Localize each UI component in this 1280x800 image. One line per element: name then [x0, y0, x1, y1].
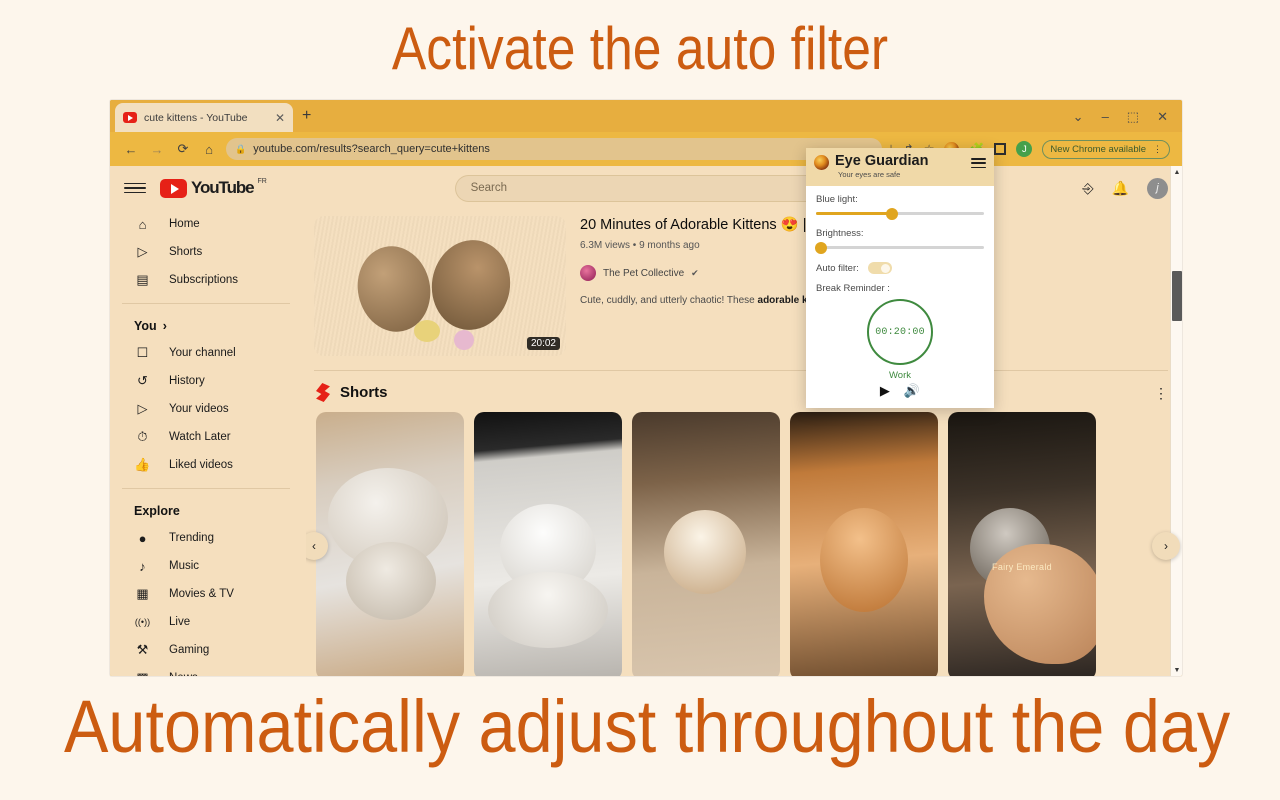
bell-icon[interactable]: 🔔 [1112, 181, 1129, 195]
timer-display: 00:20:00 [867, 299, 933, 365]
gaming-icon: ⚒ [134, 642, 151, 658]
shorts-icon: ▷ [134, 244, 151, 260]
timer-controls: ▶ 🔊 [880, 384, 920, 397]
sidebar-label: Subscriptions [169, 274, 238, 286]
subscriptions-icon: ▤ [134, 272, 151, 288]
youtube-logo[interactable]: YouTube FR [160, 178, 267, 198]
home-button[interactable]: ⌂ [196, 136, 222, 162]
sidebar-item-subscriptions[interactable]: ▤ Subscriptions [120, 266, 296, 294]
short-white-kitten[interactable] [474, 412, 622, 676]
promo-heading-top: Activate the auto filter [90, 14, 1191, 83]
account-avatar[interactable]: j [1147, 178, 1168, 199]
sidebar-you-header[interactable]: You › [120, 313, 296, 339]
browser-window: cute kittens - YouTube ✕ + ⌄ – ⬚ ✕ ← → ⟳… [110, 100, 1182, 676]
sidebar-label: News [169, 672, 198, 676]
blue-light-slider-fill [816, 212, 892, 215]
sidebar-label: Your videos [169, 403, 229, 415]
youtube-logo-text: YouTube [191, 178, 254, 198]
address-bar-url: youtube.com/results?search_query=cute+ki… [253, 143, 490, 155]
chrome-update-pill[interactable]: New Chrome available ⋮ [1042, 140, 1170, 159]
sidebar-item-liked-videos[interactable]: 👍 Liked videos [120, 451, 296, 479]
sidebar-item-your-videos[interactable]: ▷ Your videos [120, 395, 296, 423]
sidebar-label: Watch Later [169, 431, 231, 443]
blue-light-slider[interactable] [816, 212, 984, 215]
sidebar-label: Shorts [169, 246, 202, 258]
popup-body: Blue light: Brightness: Auto filter: Bre… [806, 186, 994, 397]
tab-strip: cute kittens - YouTube ✕ + ⌄ – ⬚ ✕ [110, 100, 1182, 132]
page-viewport: YouTube FR Search ⎆ 🔔 j ⌂ Home [110, 166, 1182, 676]
sidebar-label: Home [169, 218, 200, 230]
address-bar[interactable]: 🔒 youtube.com/results?search_query=cute+… [226, 138, 882, 160]
shorts-next-button[interactable]: › [1152, 532, 1180, 560]
brightness-slider-knob[interactable] [815, 242, 827, 254]
scroll-down-icon[interactable]: ▼ [1171, 664, 1182, 676]
short-shape [820, 508, 908, 612]
tab-close-icon[interactable]: ✕ [275, 112, 285, 124]
tab-title: cute kittens - YouTube [144, 112, 268, 124]
sidebar-divider [122, 488, 290, 489]
page-scrollbar[interactable]: ▲ ▼ [1170, 166, 1182, 676]
break-reminder-label: Break Reminder : [816, 283, 984, 294]
sidebar-item-gaming[interactable]: ⚒ Gaming [120, 636, 296, 664]
sidebar-label: Liked videos [169, 459, 233, 471]
short-shape [664, 510, 746, 594]
youtube-favicon-icon [123, 112, 137, 123]
short-watermark: Fairy Emerald [948, 562, 1096, 572]
sidebar-label: Movies & TV [169, 588, 234, 600]
promo-page: Activate the auto filter cute kittens - … [0, 0, 1280, 800]
auto-filter-toggle[interactable] [868, 262, 892, 274]
short-shape [346, 542, 436, 620]
side-panel-icon[interactable] [994, 143, 1006, 155]
chrome-menu-icon[interactable]: ⋮ [1153, 144, 1162, 155]
channel-name: The Pet Collective [603, 268, 684, 279]
auto-filter-row: Auto filter: [816, 262, 984, 274]
promo-heading-bottom: Automatically adjust throughout the day [64, 684, 1216, 769]
channel-avatar [580, 265, 596, 281]
short-standing-kitten[interactable] [790, 412, 938, 676]
browser-toolbar: ← → ⟳ ⌂ 🔒 youtube.com/results?search_que… [110, 132, 1182, 166]
popup-title: Eye Guardian [835, 153, 971, 169]
video-duration-badge: 20:02 [527, 337, 560, 350]
blue-light-slider-knob[interactable] [886, 208, 898, 220]
sidebar-item-history[interactable]: ↺ History [120, 367, 296, 395]
brightness-slider[interactable] [816, 246, 984, 249]
eye-guardian-popup: Eye Guardian Your eyes are safe Blue lig… [806, 148, 994, 408]
brightness-label: Brightness: [816, 228, 984, 239]
sidebar-item-trending[interactable]: ● Trending [120, 524, 296, 552]
popup-header: Eye Guardian Your eyes are safe [806, 148, 994, 186]
eye-guardian-logo-icon [814, 155, 829, 170]
shorts-kebab-menu-icon[interactable]: ⋮ [1154, 386, 1168, 400]
blue-light-label: Blue light: [816, 194, 984, 205]
youtube-body: ⌂ Home ▷ Shorts ▤ Subscriptions You › [110, 210, 1182, 676]
verified-badge-icon: ✔ [691, 268, 699, 279]
new-tab-button[interactable]: + [302, 108, 311, 124]
timer-mode-label: Work [889, 370, 911, 381]
maximize-button[interactable]: ⬚ [1127, 110, 1139, 123]
youtube-results: 20:02 20 Minutes of Adorable Kittens 😍 |… [306, 210, 1182, 676]
shorts-heading: Shorts [340, 384, 1154, 401]
sidebar-label: History [169, 375, 205, 387]
profile-avatar[interactable]: J [1016, 141, 1032, 157]
break-timer: 00:20:00 Work ▶ 🔊 [816, 299, 984, 397]
youtube-country-code: FR [258, 178, 267, 185]
your-videos-icon: ▷ [134, 401, 151, 417]
sidebar-item-live[interactable]: ((•)) Live [120, 608, 296, 636]
sidebar-item-home[interactable]: ⌂ Home [120, 210, 296, 238]
reload-button[interactable]: ⟳ [170, 136, 196, 162]
shorts-section-header: Shorts ⋮ [314, 371, 1182, 412]
window-controls: ⌄ – ⬚ ✕ [1073, 100, 1176, 132]
sidebar-item-watch-later[interactable]: ⏱ Watch Later [120, 423, 296, 451]
sidebar-label: Gaming [169, 644, 209, 656]
scroll-up-icon[interactable]: ▲ [1171, 166, 1182, 178]
clock-icon: ⏱ [134, 429, 151, 445]
sidebar-item-news[interactable]: ▩ News [120, 664, 296, 676]
thumbnail-flower [454, 330, 474, 350]
back-button[interactable]: ← [118, 136, 144, 162]
sidebar-item-shorts[interactable]: ▷ Shorts [120, 238, 296, 266]
minimize-button[interactable]: – [1102, 110, 1109, 123]
short-shape [488, 572, 608, 648]
description-lead: Cute, cuddly, and utterly chaotic! These [580, 295, 758, 306]
short-kitten-on-table[interactable] [632, 412, 780, 676]
music-icon: ♪ [134, 559, 151, 574]
sidebar-label: Your channel [169, 347, 236, 359]
shorts-carousel: ‹ [314, 412, 1182, 676]
trending-icon: ● [134, 531, 151, 546]
sidebar-item-music[interactable]: ♪ Music [120, 552, 296, 580]
popup-title-block: Eye Guardian Your eyes are safe [835, 153, 971, 179]
guide-menu-icon[interactable] [124, 183, 146, 194]
sound-icon[interactable]: 🔊 [904, 384, 920, 397]
toggle-knob [881, 264, 890, 273]
sidebar-item-your-channel[interactable]: ☐ Your channel [120, 339, 296, 367]
popup-subtitle: Your eyes are safe [835, 170, 971, 179]
sidebar-label: Live [169, 616, 190, 628]
sidebar-divider [122, 303, 290, 304]
video-thumbnail[interactable]: 20:02 [314, 216, 566, 356]
history-icon: ↺ [134, 373, 151, 389]
forward-button[interactable]: → [144, 136, 170, 162]
thumbs-up-icon: 👍 [134, 457, 151, 473]
sidebar-label: Trending [169, 532, 214, 544]
close-window-button[interactable]: ✕ [1157, 110, 1168, 123]
youtube-sidebar: ⌂ Home ▷ Shorts ▤ Subscriptions You › [110, 210, 306, 676]
lock-icon: 🔒 [235, 144, 246, 155]
play-icon[interactable]: ▶ [880, 384, 890, 397]
shorts-logo-icon [316, 383, 330, 402]
youtube-header: YouTube FR Search ⎆ 🔔 j [110, 166, 1182, 210]
auto-filter-label: Auto filter: [816, 263, 859, 274]
chevron-right-icon: › [163, 319, 167, 333]
person-icon: ☐ [134, 345, 151, 361]
short-kitten-in-hand[interactable]: Fairy Emerald [948, 412, 1096, 676]
chrome-update-label: New Chrome available [1050, 144, 1146, 155]
sidebar-you-label: You [134, 319, 157, 333]
thumbnail-toy [414, 320, 440, 342]
live-icon: ((•)) [134, 617, 151, 627]
hamburger-menu-icon[interactable] [971, 158, 986, 168]
youtube-header-actions: ⎆ 🔔 j [1072, 178, 1168, 199]
home-icon: ⌂ [134, 217, 151, 232]
short-kittens-in-box[interactable] [316, 412, 464, 676]
search-result-item[interactable]: 20:02 20 Minutes of Adorable Kittens 😍 |… [314, 216, 1182, 356]
sidebar-explore-header: Explore [120, 498, 296, 524]
scrollbar-thumb[interactable] [1172, 271, 1182, 321]
sidebar-label: Music [169, 560, 199, 572]
sidebar-item-movies[interactable]: ▦ Movies & TV [120, 580, 296, 608]
browser-tab[interactable]: cute kittens - YouTube ✕ [115, 103, 293, 132]
news-icon: ▩ [134, 670, 151, 676]
youtube-play-icon [160, 179, 187, 198]
chevron-down-icon[interactable]: ⌄ [1073, 110, 1084, 123]
create-video-icon[interactable]: ⎆ [1082, 181, 1093, 195]
movies-icon: ▦ [134, 586, 151, 602]
